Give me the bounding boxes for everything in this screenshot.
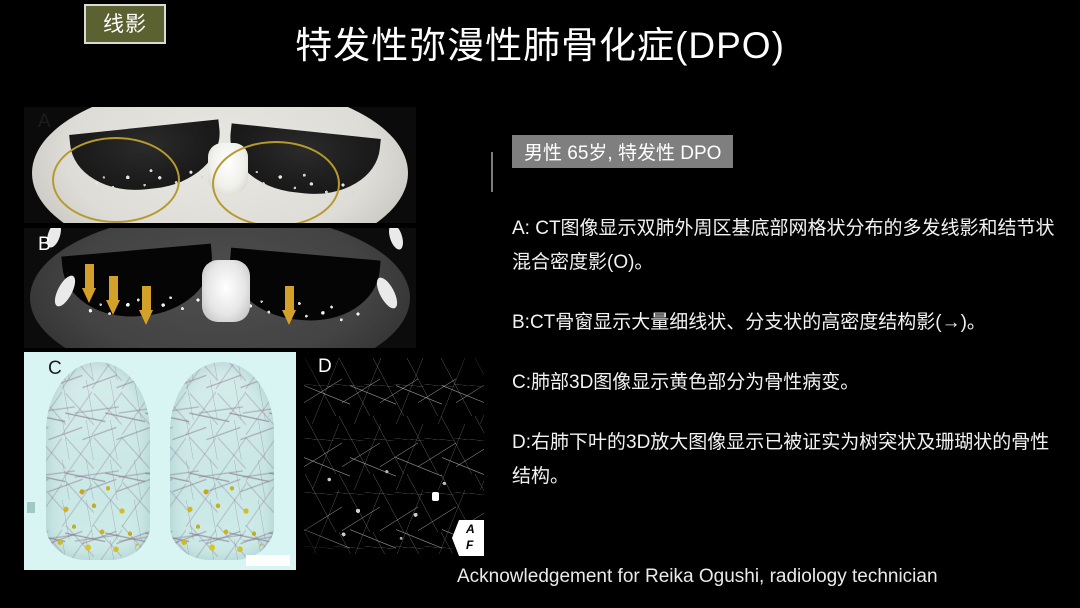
panel-letter-d: D: [318, 356, 332, 378]
ellipse-annotation-left: [52, 137, 180, 223]
orientation-label-foot: F: [466, 538, 473, 552]
arrow-annotation-icon: [139, 286, 154, 326]
panel-c-side-marker: [27, 502, 35, 513]
acknowledgement-text: Acknowledgement for Reika Ogushi, radiol…: [457, 566, 938, 588]
ct-panel-b: B: [24, 228, 416, 348]
case-subtitle-label: 男性 65岁, 特发性 DPO: [524, 138, 721, 165]
arrow-annotation-icon: [106, 276, 121, 316]
arrow-annotation-icon: [82, 264, 97, 304]
panel-letter-c: C: [48, 358, 62, 380]
panel-d-mip-structures: [304, 358, 484, 554]
panel-d-bright-focus: [432, 492, 439, 501]
case-subtitle: 男性 65岁, 特发性 DPO: [512, 135, 733, 168]
description-paragraph-a: A: CT图像显示双肺外周区基底部网格状分布的多发线影和结节状混合密度影(O)。: [512, 212, 1068, 280]
ct-panel-a: A: [24, 107, 416, 223]
panel-c-ossification-left: [48, 471, 148, 558]
panel-letter-b: B: [38, 234, 51, 256]
subtitle-tick-mark: [491, 152, 493, 192]
volume-render-panel-c: C: [24, 352, 296, 570]
panel-c-ossification-right: [172, 471, 272, 558]
panel-letter-a: A: [38, 111, 51, 133]
slide-root: 线影 特发性弥漫性肺骨化症(DPO) A B: [0, 0, 1080, 608]
arrow-annotation-icon: [282, 286, 297, 326]
description-paragraph-c: C:肺部3D图像显示黄色部分为骨性病变。: [512, 366, 1068, 400]
description-list: A: CT图像显示双肺外周区基底部网格状分布的多发线影和结节状混合密度影(O)。…: [512, 212, 1068, 494]
ellipse-annotation-right: [212, 141, 340, 223]
orientation-label-anterior: A: [466, 522, 475, 536]
page-title: 特发性弥漫性肺骨化症(DPO): [0, 26, 1080, 67]
panel-c-lung-right: [170, 362, 274, 560]
panel-c-scale-tag: [246, 555, 290, 566]
panel-c-lung-left: [46, 362, 150, 560]
description-paragraph-b: B:CT骨窗显示大量细线状、分支状的高密度结构影(→)。: [512, 306, 1068, 340]
volume-render-panel-d: A F D: [300, 352, 492, 570]
description-paragraph-d: D:右肺下叶的3D放大图像显示已被证实为树突状及珊瑚状的骨性结构。: [512, 426, 1068, 494]
panel-b-spine: [202, 260, 250, 322]
panel-b-rib: [373, 275, 401, 312]
